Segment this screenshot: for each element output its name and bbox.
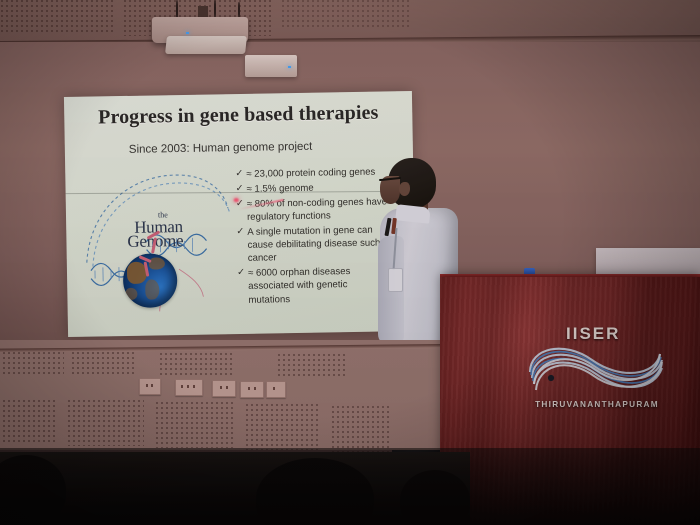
acoustic-panel bbox=[0, 400, 56, 444]
slide-surface: Progress in gene based therapies Since 2… bbox=[64, 91, 416, 337]
bullet-text: A single mutation in gene can bbox=[247, 224, 373, 237]
projector-led bbox=[186, 32, 189, 34]
slide-subtitle: Since 2003: Human genome project bbox=[129, 141, 313, 156]
acoustic-panel bbox=[156, 402, 234, 448]
acoustic-panel bbox=[332, 406, 390, 452]
access-point-led bbox=[288, 66, 291, 68]
iiser-logo: IISER THIRUVANANTHAPURAM bbox=[520, 318, 670, 428]
projector-lens bbox=[165, 36, 247, 54]
wall-socket[interactable] bbox=[212, 380, 236, 397]
wall-socket[interactable] bbox=[139, 378, 161, 395]
check-icon: ✓ bbox=[235, 182, 243, 195]
check-icon: ✓ bbox=[235, 167, 243, 180]
acoustic-panel bbox=[282, 0, 412, 30]
iiser-logo-text: IISER bbox=[566, 324, 620, 344]
cable bbox=[214, 0, 216, 18]
acoustic-panel bbox=[72, 352, 134, 374]
slide-title: Progress in gene based therapies bbox=[64, 101, 412, 130]
foreground-darkness bbox=[0, 448, 700, 525]
acoustic-panel bbox=[246, 404, 320, 450]
wall-socket[interactable] bbox=[266, 381, 286, 398]
lecture-hall-photo: Progress in gene based therapies Since 2… bbox=[0, 0, 700, 525]
acoustic-panel bbox=[0, 0, 116, 34]
id-badge bbox=[388, 268, 403, 292]
bullet-text: ≈ 23,000 protein coding genes bbox=[246, 167, 375, 180]
wall-socket[interactable] bbox=[240, 381, 264, 398]
projection-screen: Progress in gene based therapies Since 2… bbox=[64, 91, 416, 337]
cable bbox=[238, 2, 240, 18]
shirt-collar bbox=[395, 204, 430, 223]
check-icon: ✓ bbox=[237, 266, 245, 279]
acoustic-panel bbox=[160, 353, 232, 375]
iiser-logo-subtitle: THIRUVANANTHAPURAM bbox=[524, 400, 670, 409]
wall-socket[interactable] bbox=[175, 379, 203, 396]
bullet-text: ≈ 1.5% genome bbox=[246, 183, 313, 195]
bullet-text: ≈ 6000 orphan diseases bbox=[248, 266, 351, 279]
laser-pointer-dot bbox=[234, 198, 239, 202]
human-genome-logo: the Human Genome bbox=[81, 164, 234, 327]
check-icon: ✓ bbox=[236, 225, 244, 238]
acoustic-panel bbox=[68, 400, 144, 446]
acoustic-panel bbox=[278, 354, 348, 376]
presenter-ear bbox=[399, 182, 410, 196]
acoustic-panel bbox=[0, 352, 64, 374]
